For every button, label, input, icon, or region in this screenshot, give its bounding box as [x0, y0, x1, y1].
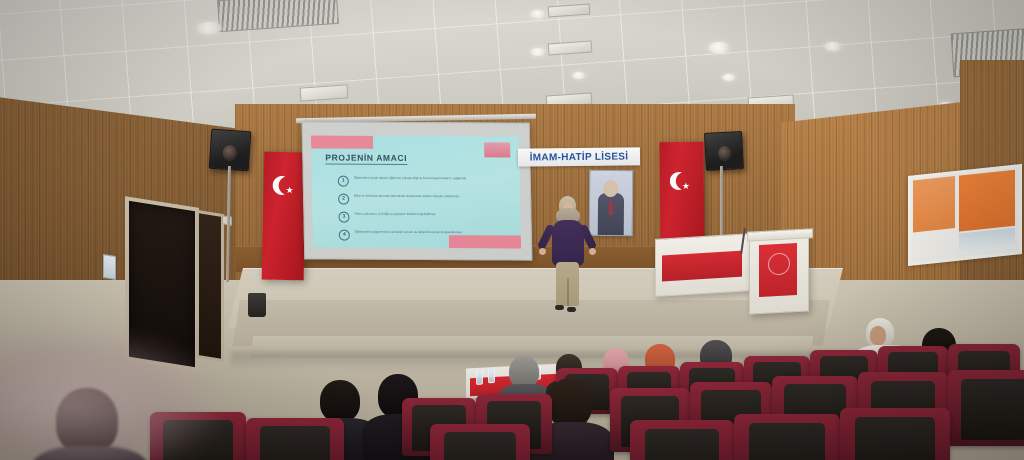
person-head: [320, 380, 360, 422]
lectern-top-surface: [747, 228, 813, 241]
portrait-head: [603, 180, 618, 197]
slide-bullet-number: 1: [338, 176, 349, 187]
speaker-lectern: [749, 231, 809, 314]
window: [908, 164, 1022, 266]
school-name-text: İMAM-HATİP LİSESİ: [530, 151, 629, 163]
portrait-tie: [609, 201, 613, 215]
foreground-blur-haze: [0, 330, 220, 460]
slide-bullet-number: 2: [338, 194, 349, 205]
presenter-hand-left: [539, 248, 546, 255]
school-name-banner: İMAM-HATİP LİSESİ: [518, 147, 640, 166]
person-head: [548, 378, 592, 428]
ceiling-downlight-4: [824, 42, 842, 51]
water-bottle: [488, 368, 495, 383]
ceiling-downlight-3: [708, 42, 730, 53]
auditorium-seat[interactable]: [630, 420, 734, 460]
presentation-slide: PROJENİN AMACI 1 Öğrencilerin proje taba…: [311, 135, 521, 248]
auditorium-seat[interactable]: [948, 370, 1024, 446]
seat-cushion: [961, 379, 1024, 440]
turkish-flag-left: ★: [262, 152, 307, 281]
seat-cushion: [444, 432, 516, 460]
presenter-shoe-right: [567, 307, 576, 312]
stage-table: [655, 233, 751, 297]
ceiling-downlight-2: [572, 72, 586, 79]
slide-bullet: 4 Öğrencilerin özgüvenlerini artırarak s…: [339, 230, 503, 242]
window-glass: [959, 228, 1015, 254]
presenter-speaker: [538, 196, 598, 316]
speaker-cone-left: [222, 145, 237, 162]
slide-bullet-text: Öğrencilerin proje tabanlı öğrenme yoluy…: [354, 176, 502, 181]
ceiling-downlight-1: [196, 22, 222, 34]
speaker-cone-right: [718, 146, 732, 162]
window-blind-left[interactable]: [913, 176, 955, 232]
slide-bullet: 1 Öğrencilerin proje tabanlı öğrenme yol…: [338, 176, 502, 188]
slide-bullet-number: 4: [339, 230, 350, 241]
slide-bullet-number: 3: [338, 212, 349, 223]
auditorium-seat[interactable]: [840, 408, 950, 460]
flag-star-right: ★: [682, 182, 690, 191]
water-bottle: [476, 370, 483, 385]
pa-speaker-right: [704, 131, 744, 171]
window-blind-right[interactable]: [959, 170, 1015, 232]
ceiling-downlight-7: [722, 74, 736, 81]
flag-star-left: ★: [285, 186, 293, 195]
lectern-banner: [759, 243, 797, 297]
slide-bullet-text: Öğrencilerin özgüvenlerini artırarak sun…: [355, 230, 503, 235]
presenter-leg-gap: [567, 278, 569, 306]
auditorium-seat[interactable]: [734, 414, 840, 460]
seat-cushion: [855, 417, 934, 460]
seat-cushion: [749, 423, 825, 460]
slide-bullet: 3 Takım çalışması, iş birliği ve paylaşı…: [338, 212, 502, 224]
stage-table-cloth: [662, 251, 742, 282]
door-sign: [103, 254, 116, 280]
seat-cushion: [260, 426, 331, 460]
ceiling-downlight-5: [530, 10, 546, 18]
turkish-flag-right: ★: [659, 142, 704, 250]
trash-bin: [248, 293, 266, 317]
slide-logo: [484, 142, 510, 157]
person-face: [870, 326, 886, 345]
seat-cushion: [645, 429, 720, 460]
presenter-hand-right: [589, 248, 596, 255]
presenter-shoe-left: [555, 305, 564, 310]
slide-title: PROJENİN AMACI: [325, 153, 407, 165]
pa-speaker-left: [209, 129, 252, 172]
auditorium-seat[interactable]: [430, 424, 530, 460]
slide-bullet-text: Bilim ve teknoloji alanında farkındalık …: [354, 194, 502, 199]
auditorium-seat[interactable]: [246, 418, 344, 460]
ceiling-downlight-6: [530, 48, 546, 56]
slide-bullet-text: Takım çalışması, iş birliği ve paylaşım …: [354, 212, 502, 217]
slide-bullet: 2 Bilim ve teknoloji alanında farkındalı…: [338, 194, 502, 206]
school-crest-emblem: [768, 252, 790, 275]
auditorium-presentation-photo: ★ ★ PROJENİN AMACI 1 Öğrencilerin proje …: [0, 0, 1024, 460]
slide-accent-top-left: [311, 135, 373, 148]
projection-screen: PROJENİN AMACI 1 Öğrencilerin proje taba…: [302, 121, 533, 260]
